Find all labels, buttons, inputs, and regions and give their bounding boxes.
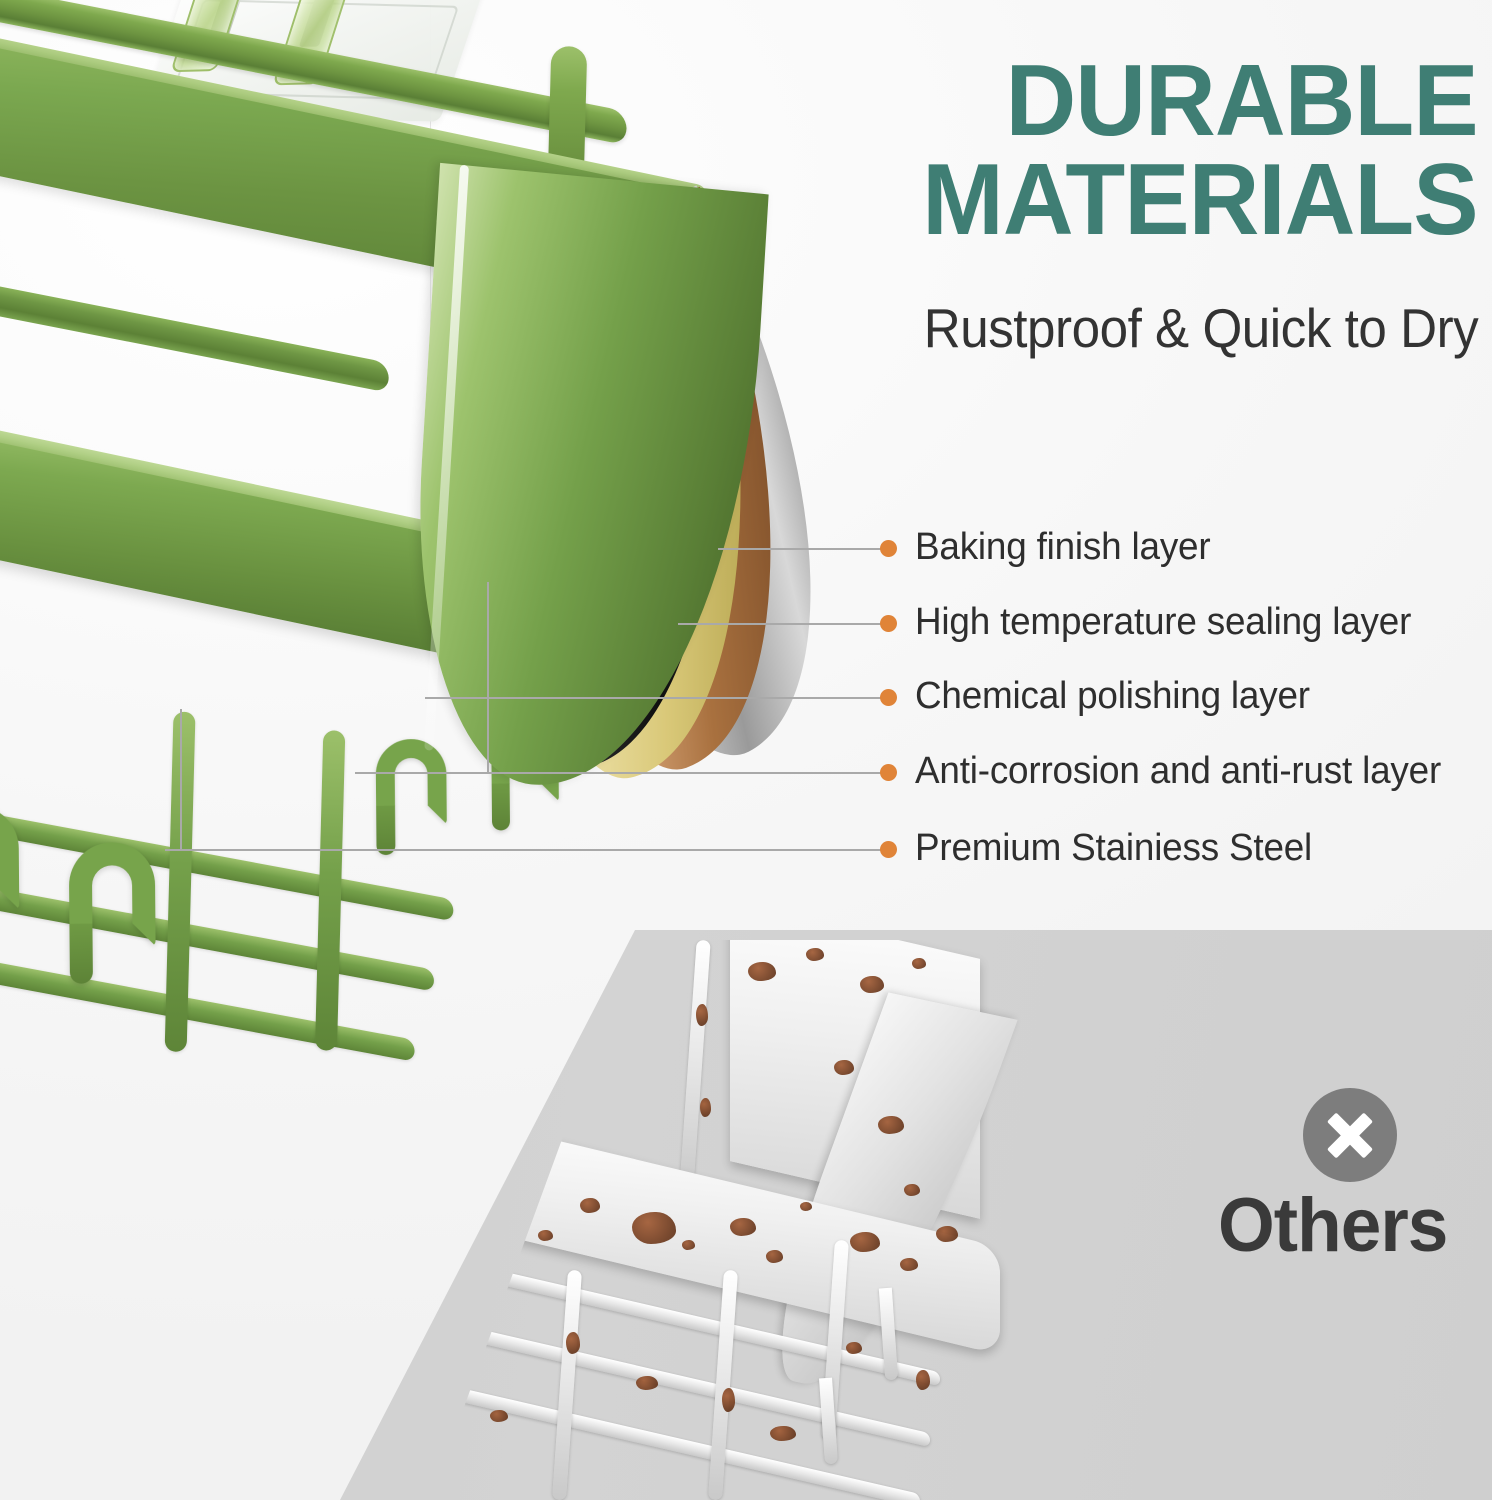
leader-elbow <box>180 709 182 849</box>
rust-spot <box>904 1184 920 1196</box>
callout-bullet <box>880 841 897 858</box>
rusty-grid-wire <box>430 1374 920 1500</box>
rust-spot <box>730 1218 756 1236</box>
rusty-grid-wire-vertical <box>552 1270 582 1500</box>
rust-spot <box>636 1376 658 1390</box>
leader-line <box>678 623 888 625</box>
rust-spot <box>878 1116 904 1134</box>
callout-label: Anti-corrosion and anti-rust layer <box>915 750 1441 793</box>
rust-spot <box>860 976 884 993</box>
callout-bullet <box>880 540 897 557</box>
rust-spot <box>632 1212 676 1244</box>
rust-spot <box>748 962 776 981</box>
rust-spot <box>566 1332 580 1354</box>
callout-bullet <box>880 764 897 781</box>
x-mark-icon <box>1303 1088 1397 1182</box>
leader-line <box>355 772 888 774</box>
callout-bullet <box>880 615 897 632</box>
rust-spot <box>936 1226 958 1242</box>
rust-spot <box>834 1060 854 1075</box>
rust-spot <box>806 948 824 961</box>
leader-line <box>718 548 888 550</box>
rust-spot <box>696 1004 708 1026</box>
rust-spot <box>912 958 926 969</box>
leader-line <box>165 849 888 851</box>
rust-spot <box>682 1240 695 1250</box>
rust-spot <box>900 1258 918 1271</box>
rust-spot <box>766 1250 783 1263</box>
rust-spot <box>916 1370 930 1390</box>
rust-spot <box>580 1198 600 1213</box>
rust-spot <box>846 1342 862 1354</box>
callout-bullet <box>880 689 897 706</box>
rust-spot <box>700 1098 711 1117</box>
callout-label: Premium Stainiess Steel <box>915 827 1312 870</box>
callout-label: High temperature sealing layer <box>915 601 1411 644</box>
rust-spot <box>770 1426 796 1441</box>
rust-spot <box>800 1202 812 1211</box>
callout-label: Baking finish layer <box>915 526 1210 569</box>
leader-line <box>425 697 888 699</box>
rust-spot <box>538 1230 553 1241</box>
product-feature-image: DURABLE MATERIALS Rustproof & Quick to D… <box>0 0 1492 1500</box>
rust-spot <box>490 1410 508 1422</box>
rust-spot <box>850 1232 880 1252</box>
callout-label: Chemical polishing layer <box>915 675 1310 718</box>
leader-elbow <box>487 582 489 772</box>
rusty-upright <box>679 940 710 1190</box>
others-label: Others <box>1218 1182 1447 1269</box>
rust-spot <box>722 1388 735 1412</box>
